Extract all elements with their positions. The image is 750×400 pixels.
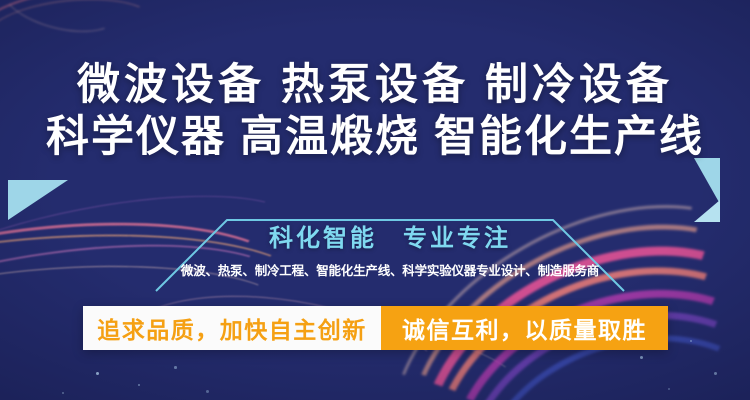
badge-title-left: 科化智能 bbox=[269, 225, 377, 252]
headline-line-2: 科学仪器 高温煅烧 智能化生产线 bbox=[0, 114, 750, 160]
headline: 微波设备 热泵设备 制冷设备 科学仪器 高温煅烧 智能化生产线 bbox=[0, 62, 750, 161]
slogan-bar-group: 追求品质，加快自主创新 诚信互利，以质量取胜 bbox=[83, 306, 668, 350]
badge-trapezoid: 科化智能专业专注 微波、热泵、制冷工程、智能化生产线、科学实验仪器专业设计、制造… bbox=[155, 214, 625, 292]
headline-line-1: 微波设备 热泵设备 制冷设备 bbox=[0, 62, 750, 108]
slogan-bar-left: 追求品质，加快自主创新 bbox=[83, 306, 381, 350]
badge-title-right: 专业专注 bbox=[403, 225, 511, 252]
slogan-bar-right: 诚信互利，以质量取胜 bbox=[381, 306, 668, 350]
badge-title: 科化智能专业专注 bbox=[155, 218, 625, 253]
promo-banner: 微波设备 热泵设备 制冷设备 科学仪器 高温煅烧 智能化生产线 科化智能专业专注… bbox=[0, 0, 750, 400]
badge-subtitle: 微波、热泵、制冷工程、智能化生产线、科学实验仪器专业设计、制造服务商 bbox=[155, 260, 625, 279]
